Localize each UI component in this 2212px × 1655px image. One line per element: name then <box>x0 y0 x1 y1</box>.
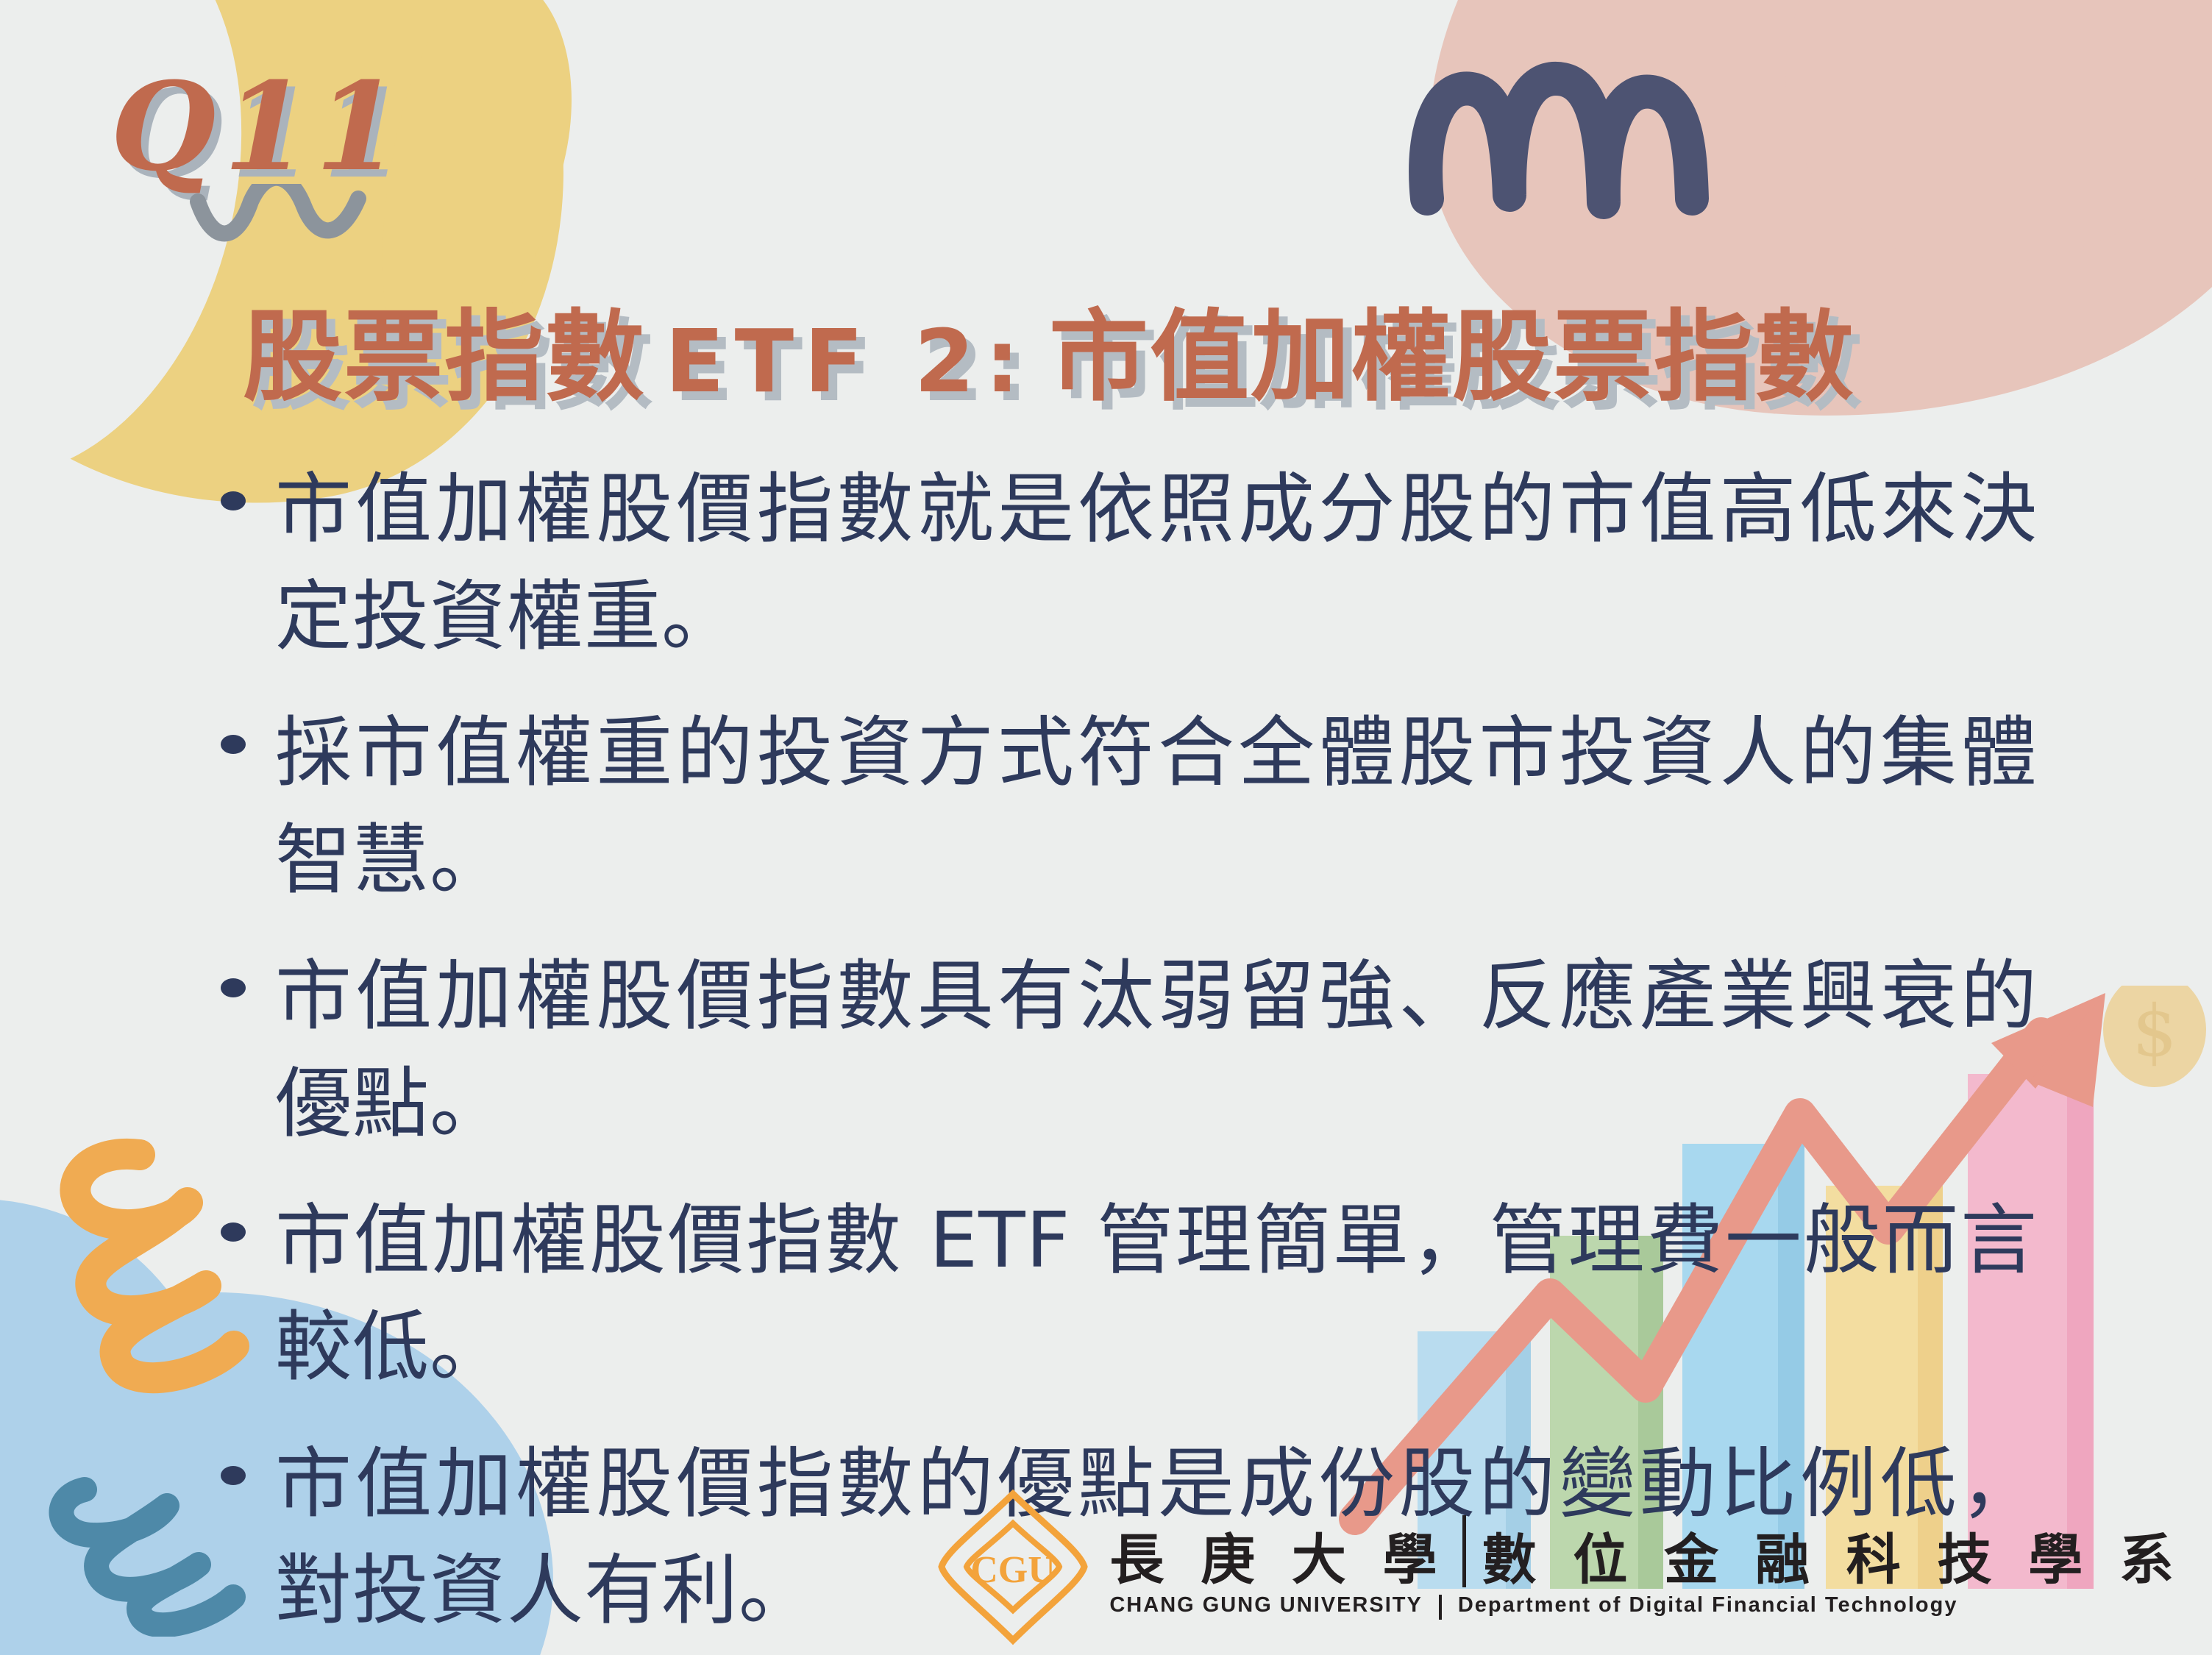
bullet-text: 市值加權股價指數具有汰弱留強、反應產業興衰的優點。 <box>275 943 2038 1157</box>
dollar-coin-icon: $ <box>2103 986 2206 1087</box>
list-item: 市值加權股價指數具有汰弱留強、反應產業興衰的優點。 <box>221 943 2038 1157</box>
list-item: 市值加權股價指數 ETF 管理簡單，管理費一般而言較低。 <box>221 1187 2038 1401</box>
title-suffix: 市值加權股票指數 <box>1049 299 1855 415</box>
bullet-dot-icon <box>221 735 246 754</box>
question-number-label: Q11 <box>110 66 407 188</box>
bullet-dot-icon <box>221 1222 246 1242</box>
department-name-cn: 數 位 金 融 科 技 學 系 <box>1482 1533 2183 1587</box>
bullet-dot-icon <box>221 1466 246 1485</box>
list-item: 採市值權重的投資方式符合全體股市投資人的集體智慧。 <box>221 700 2038 914</box>
bullet-dot-icon <box>221 978 246 997</box>
title-prefix: 股票指數 <box>243 299 646 415</box>
cgu-diamond-icon: CGU <box>936 1488 1090 1646</box>
svg-text:CGU: CGU <box>971 1549 1056 1591</box>
logo-divider <box>1462 1515 1466 1587</box>
title-latin: ETF 2: <box>646 310 1049 412</box>
logo-divider-en <box>1439 1595 1442 1620</box>
bullet-text: 市值加權股價指數 ETF 管理簡單，管理費一般而言較低。 <box>275 1187 2038 1401</box>
svg-text:$: $ <box>2132 990 2177 1072</box>
university-name-cn: 長 庚 大 學 <box>1109 1533 1445 1587</box>
bullet-text: 市值加權股價指數就是依照成分股的市值高低來決定投資權重。 <box>275 456 2038 670</box>
blob-blue-lobe <box>0 1199 213 1655</box>
university-name-en: CHANG GUNG UNIVERSITY <box>1109 1595 1422 1616</box>
department-name-en: Department of Digital Financial Technolo… <box>1458 1595 1958 1616</box>
institution-logo: CGU 長 庚 大 學 數 位 金 融 科 技 學 系 CHANG GUNG U… <box>936 1488 2183 1646</box>
bullet-list: 市值加權股價指數就是依照成分股的市值高低來決定投資權重。 採市值權重的投資方式符… <box>221 456 2038 1655</box>
page-title: 股票指數ETF 2:市值加權股票指數 <box>243 276 1855 420</box>
bullet-dot-icon <box>221 491 246 510</box>
blob-pink-lobe <box>1785 0 2212 265</box>
list-item: 市值加權股價指數就是依照成分股的市值高低來決定投資權重。 <box>221 456 2038 670</box>
slide-canvas: $ Q11 股票指數ETF 2:市值加權股票指數 市值加權股價指數就是依照成分股… <box>0 0 2212 1655</box>
squiggle-underline-icon <box>188 184 379 250</box>
squiggle-m-icon <box>1398 44 1810 221</box>
bullet-text: 採市值權重的投資方式符合全體股市投資人的集體智慧。 <box>275 700 2038 914</box>
